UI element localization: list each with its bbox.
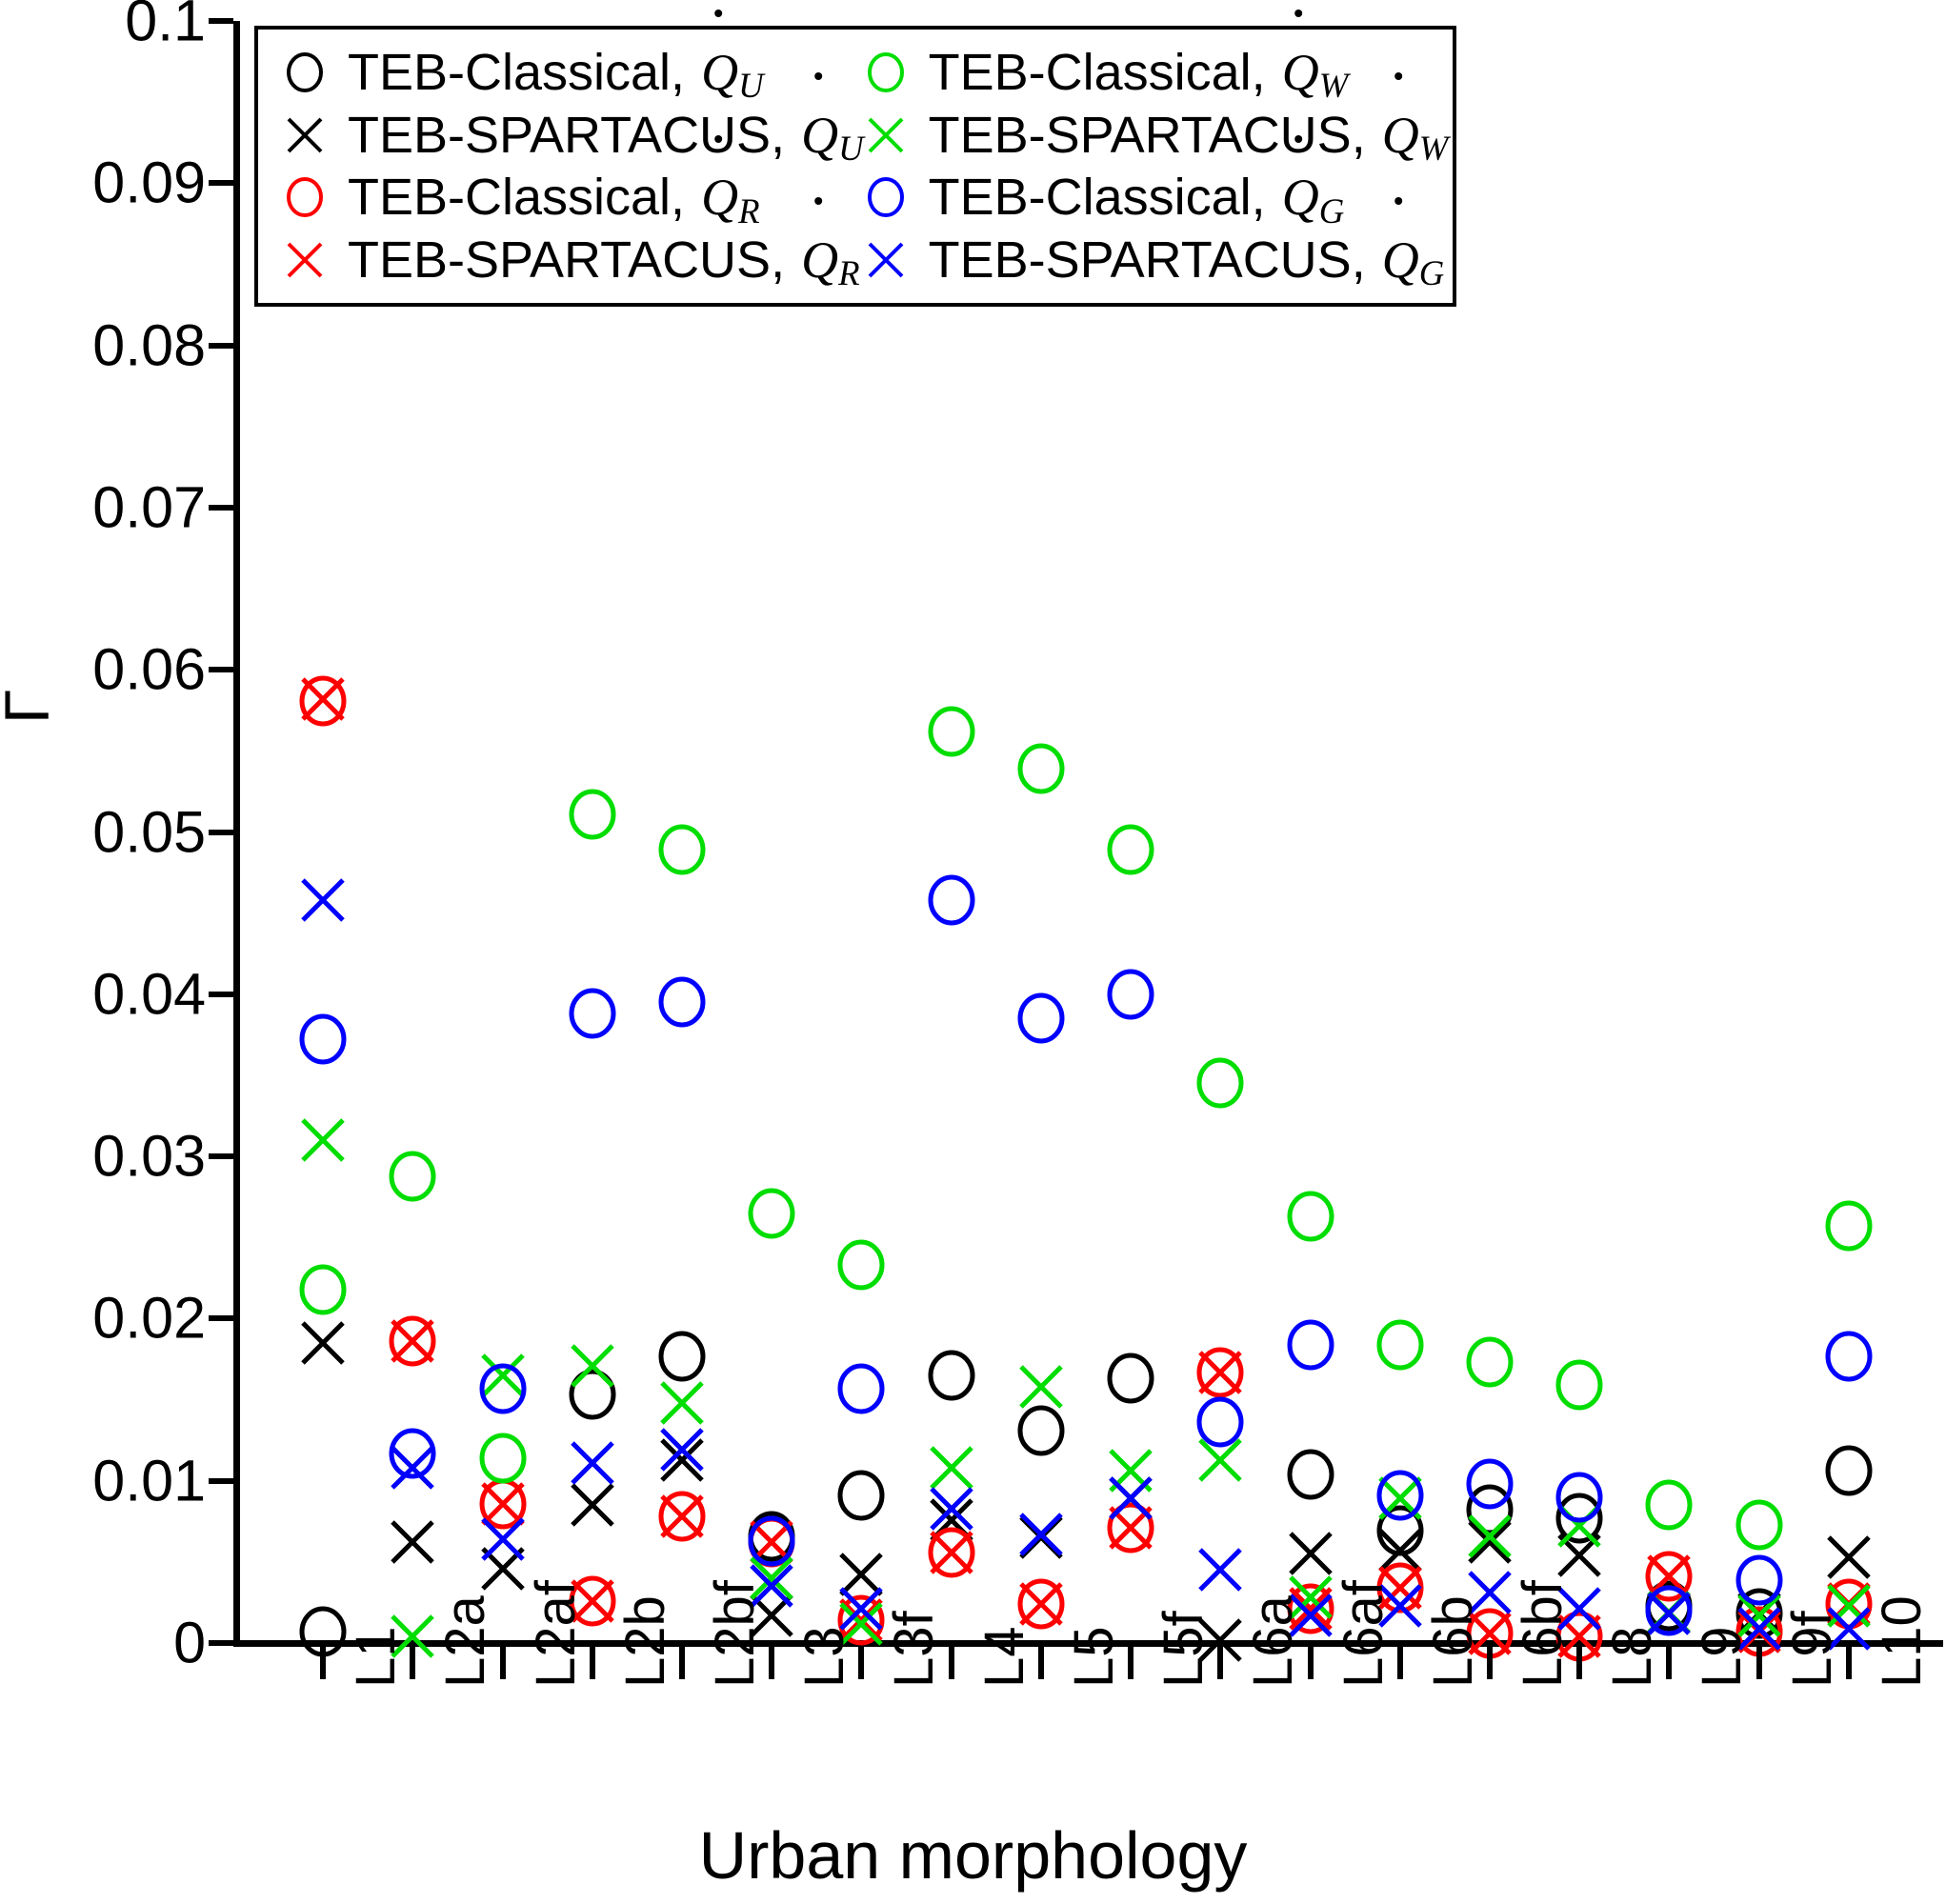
data-point-qr-l4	[927, 1528, 976, 1577]
data-point-qg-l1	[297, 1013, 349, 1065]
legend-label: TEB-Classical, QG	[929, 171, 1345, 223]
x-tick-label-l6bf: L6bf	[1511, 1580, 1575, 1688]
legend-item-1[interactable]: TEB-Classical, QW	[864, 47, 1449, 98]
data-point-qr-l1	[298, 674, 348, 724]
data-point-qu-l10	[1823, 1445, 1875, 1496]
data-point-qw-l6af	[1285, 1191, 1336, 1242]
cross-marker-icon	[283, 113, 327, 157]
data-point-qw-l2af	[477, 1433, 529, 1484]
data-point-qw-l3f	[835, 1239, 887, 1291]
x-tick-mark	[500, 1647, 506, 1679]
data-point-qg-l6b	[1374, 1470, 1426, 1521]
data-point-qw-l5f	[1105, 824, 1156, 875]
data-point-qu-l3f	[835, 1470, 887, 1521]
x-tick-label-l1: L1	[344, 1626, 408, 1688]
y-tick-mark	[209, 667, 233, 672]
data-point-qw-l2a	[387, 1151, 438, 1202]
data-point-qw-l8	[1554, 1359, 1605, 1411]
data-point-qg-l5	[1016, 1510, 1066, 1559]
x-tick-label-l3f: L3f	[882, 1611, 946, 1688]
y-tick-label: 0.03	[92, 1128, 206, 1186]
data-point-qw-l1	[298, 1115, 348, 1165]
data-point-qg-l4	[927, 1484, 976, 1533]
x-tick-label-l8: L8	[1600, 1626, 1664, 1688]
x-tick-mark	[769, 1647, 774, 1679]
circle-marker-icon	[283, 50, 327, 94]
data-point-qr-l5	[1016, 1579, 1066, 1629]
y-tick-mark	[209, 1640, 233, 1646]
data-point-qg-l8	[1554, 1472, 1605, 1523]
data-point-qw-l2b	[567, 789, 618, 840]
legend-item-7[interactable]: TEB-SPARTACUS, QG	[864, 234, 1449, 286]
data-point-qw-l3	[746, 1188, 797, 1239]
x-tick-mark	[1756, 1647, 1762, 1679]
x-tick-label-l6b: L6b	[1421, 1595, 1485, 1688]
y-tick-mark	[209, 992, 233, 997]
y-tick-label: 0.04	[92, 965, 206, 1023]
data-point-qw-l5	[1016, 1362, 1066, 1412]
data-point-qw-l2b	[568, 1341, 617, 1391]
x-tick-label-l2a: L2a	[433, 1595, 497, 1688]
y-tick-mark	[209, 830, 233, 835]
legend-label: TEB-Classical, QU	[348, 47, 764, 98]
data-point-qg-l3	[746, 1515, 797, 1567]
data-point-qg-l2a	[388, 1443, 437, 1493]
legend-label: TEB-SPARTACUS, QG	[929, 234, 1445, 286]
data-point-qw-l10	[1823, 1200, 1875, 1252]
data-point-qg-l1	[298, 875, 348, 925]
data-point-qw-l5	[1015, 743, 1067, 794]
legend: TEB-Classical, QUTEB-Classical, QWTEB-SP…	[254, 26, 1456, 307]
x-tick-mark	[1666, 1647, 1672, 1679]
data-point-qu-l6af	[1286, 1529, 1335, 1578]
legend-item-6[interactable]: TEB-SPARTACUS, QR	[283, 234, 864, 286]
circle-marker-icon	[864, 175, 908, 219]
data-point-qu-l2b	[568, 1480, 617, 1530]
data-point-qu-l5f	[1105, 1353, 1156, 1404]
legend-item-5[interactable]: TEB-Classical, QG	[864, 171, 1449, 223]
y-tick-mark	[209, 1153, 233, 1159]
y-tick-label: 0.1	[125, 0, 206, 50]
data-point-qg-l2af	[477, 1363, 529, 1414]
data-point-qw-l6bf	[1465, 1512, 1515, 1561]
legend-item-0[interactable]: TEB-Classical, QU	[283, 47, 864, 98]
x-tick-mark	[1128, 1647, 1133, 1679]
data-point-qg-l2b	[568, 1438, 617, 1488]
data-point-qg-l6a	[1195, 1545, 1245, 1594]
y-tick-label: 0.08	[92, 316, 206, 374]
data-point-qw-l4	[926, 706, 977, 757]
data-point-qg-l2bf	[656, 976, 708, 1028]
y-tick-mark	[209, 505, 233, 511]
data-point-qw-l2bf	[657, 1378, 707, 1428]
x-tick-label-l5: L5	[1062, 1626, 1126, 1688]
x-tick-label-l9f: L9f	[1780, 1611, 1844, 1688]
x-tick-label-l10: L10	[1870, 1595, 1934, 1688]
cross-marker-icon	[864, 113, 908, 157]
x-tick-label-l2bf: L2bf	[703, 1580, 767, 1688]
x-tick-mark	[1397, 1647, 1403, 1679]
y-tick-label: 0.06	[92, 641, 206, 699]
circle-marker-icon	[283, 175, 327, 219]
x-tick-label-l6af: L6af	[1332, 1580, 1395, 1688]
data-point-qr-l6a	[1195, 1348, 1245, 1397]
legend-item-2[interactable]: TEB-SPARTACUS, QU	[283, 110, 864, 161]
x-tick-mark	[1576, 1647, 1582, 1679]
data-point-qu-l10	[1824, 1533, 1874, 1582]
legend-label: TEB-Classical, QR	[348, 171, 760, 223]
data-point-qu-l2a	[388, 1517, 437, 1567]
x-tick-mark	[320, 1647, 326, 1679]
legend-label: TEB-SPARTACUS, QR	[348, 234, 860, 286]
y-tick-mark	[209, 180, 233, 186]
data-point-qg-l9f	[1734, 1554, 1785, 1606]
data-point-qg-l4	[926, 874, 977, 926]
data-point-qg-l5f	[1105, 969, 1156, 1020]
y-tick-mark	[209, 343, 233, 349]
x-tick-mark	[1308, 1647, 1314, 1679]
data-point-qw-l6b	[1374, 1319, 1426, 1371]
data-point-qg-l6af	[1285, 1319, 1336, 1371]
data-point-qg-l2bf	[657, 1425, 707, 1474]
x-tick-mark	[1487, 1647, 1493, 1679]
x-tick-mark	[679, 1647, 685, 1679]
data-point-qw-l1	[297, 1264, 349, 1315]
data-point-qw-l6bf	[1464, 1336, 1515, 1388]
x-tick-label-l9: L9	[1690, 1626, 1754, 1688]
x-axis-title: Urban morphology	[0, 1817, 1946, 1894]
x-tick-mark	[858, 1647, 864, 1679]
y-tick-mark	[209, 18, 233, 24]
data-point-qr-l2bf	[657, 1492, 707, 1541]
cross-marker-icon	[864, 238, 908, 282]
y-tick-label: 0.07	[92, 478, 206, 536]
x-tick-label-l6a: L6a	[1241, 1595, 1305, 1688]
data-point-qg-l5f	[1106, 1473, 1155, 1523]
data-point-qg-l6bf	[1464, 1458, 1515, 1510]
x-tick-label-l4: L4	[973, 1626, 1036, 1688]
x-tick-label-l3: L3	[792, 1626, 856, 1688]
legend-label: TEB-SPARTACUS, QU	[348, 110, 864, 161]
data-point-qg-l5	[1015, 992, 1067, 1044]
data-point-qg-l2b	[567, 988, 618, 1039]
data-point-qu-l2bf	[656, 1331, 708, 1382]
x-tick-mark	[1038, 1647, 1044, 1679]
data-point-qg-l3f	[835, 1363, 887, 1414]
y-tick-label: 0.01	[92, 1452, 206, 1510]
x-tick-label-l2b: L2b	[613, 1595, 677, 1688]
y-axis-title: Γ	[0, 690, 63, 724]
x-tick-mark	[590, 1647, 595, 1679]
x-tick-mark	[949, 1647, 954, 1679]
data-point-qw-l9f	[1734, 1499, 1785, 1551]
chart-canvas: Γ 00.010.020.030.040.050.060.070.080.090…	[0, 0, 1946, 1904]
data-point-qw-l9	[1643, 1479, 1695, 1531]
y-tick-mark	[209, 1478, 233, 1484]
x-tick-mark	[410, 1647, 415, 1679]
y-tick-label: 0.05	[92, 803, 206, 861]
legend-label: TEB-SPARTACUS, QW	[929, 110, 1449, 161]
y-tick-label: 0.02	[92, 1290, 206, 1348]
data-point-qr-l2a	[388, 1316, 437, 1366]
data-point-qg-l10	[1823, 1331, 1875, 1382]
data-point-qw-l6a	[1194, 1057, 1246, 1109]
y-tick-mark	[209, 1315, 233, 1321]
y-tick-label: 0	[173, 1614, 206, 1673]
x-tick-label-l5f: L5f	[1152, 1611, 1215, 1688]
x-tick-label-l2af: L2af	[524, 1580, 588, 1688]
legend-label: TEB-Classical, QW	[929, 47, 1349, 98]
data-point-qu-l4	[926, 1350, 977, 1401]
circle-marker-icon	[864, 50, 908, 94]
cross-marker-icon	[283, 238, 327, 282]
data-point-qg-l2af	[478, 1514, 528, 1564]
legend-item-4[interactable]: TEB-Classical, QR	[283, 171, 864, 223]
legend-item-3[interactable]: TEB-SPARTACUS, QW	[864, 110, 1449, 161]
x-tick-mark	[1217, 1647, 1223, 1679]
x-tick-mark	[1846, 1647, 1852, 1679]
data-point-qu-l1	[298, 1318, 348, 1368]
data-point-qu-l5	[1015, 1405, 1067, 1456]
data-point-qu-l6af	[1285, 1449, 1336, 1500]
y-tick-label: 0.09	[92, 154, 206, 212]
data-point-qw-l2bf	[656, 824, 708, 875]
data-point-qg-l6a	[1194, 1396, 1246, 1448]
